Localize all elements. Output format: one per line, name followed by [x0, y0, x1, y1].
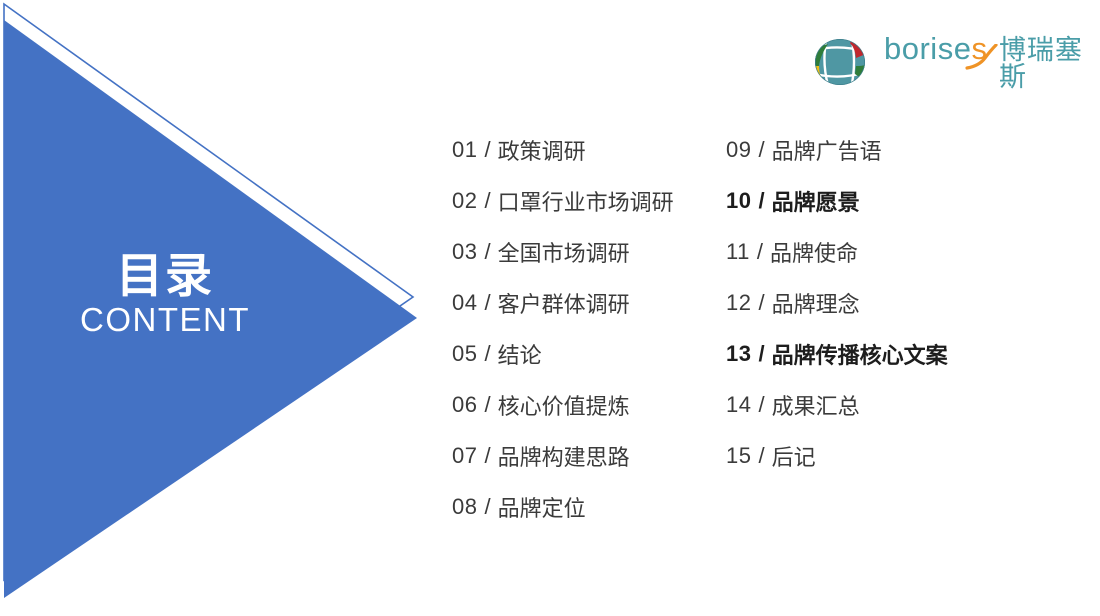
- toc-separator: /: [484, 494, 490, 520]
- toc-item-label: 口罩行业市场调研: [498, 185, 674, 217]
- list-item[interactable]: 13 / 品牌传播核心文案: [726, 328, 1026, 379]
- logo-accent-letter-glyph: s: [971, 31, 987, 66]
- toc-item-label: 结论: [498, 338, 542, 370]
- toc-item-number: 05: [452, 341, 477, 367]
- brand-logo: borise s 博瑞塞斯: [812, 34, 1100, 90]
- toc-item-label: 品牌定位: [498, 491, 586, 523]
- list-item[interactable]: 09 / 品牌广告语: [726, 124, 1026, 175]
- toc-separator: /: [758, 137, 764, 163]
- slide-canvas: 目录 CONTENT 01 / 政策调研 02 / 口罩行业市场调研 03 / …: [0, 0, 1100, 616]
- toc-separator: /: [484, 443, 490, 469]
- logo-word: borise: [884, 33, 971, 64]
- toc-separator: /: [758, 392, 764, 418]
- list-item[interactable]: 01 / 政策调研: [452, 124, 722, 175]
- toc-separator: /: [758, 188, 764, 214]
- toc-item-label: 政策调研: [498, 134, 586, 166]
- toc-separator: /: [484, 188, 490, 214]
- toc-separator: /: [484, 392, 490, 418]
- toc-item-label: 品牌愿景: [772, 185, 860, 217]
- list-item[interactable]: 04 / 客户群体调研: [452, 277, 722, 328]
- toc-item-label: 后记: [772, 440, 816, 472]
- toc-item-number: 02: [452, 188, 477, 214]
- list-item[interactable]: 07 / 品牌构建思路: [452, 430, 722, 481]
- toc-item-label: 品牌广告语: [772, 134, 882, 166]
- toc-item-number: 10: [726, 188, 751, 214]
- toc-column-left: 01 / 政策调研 02 / 口罩行业市场调研 03 / 全国市场调研 04 /…: [452, 124, 722, 532]
- toc-separator: /: [484, 290, 490, 316]
- list-item[interactable]: 12 / 品牌理念: [726, 277, 1026, 328]
- toc-item-number: 07: [452, 443, 477, 469]
- toc-item-number: 15: [726, 443, 751, 469]
- logo-accent-letter: s: [971, 33, 987, 64]
- toc-item-label: 成果汇总: [772, 389, 860, 421]
- decorative-triangle-group: [0, 0, 440, 616]
- list-item[interactable]: 05 / 结论: [452, 328, 722, 379]
- toc-separator: /: [758, 443, 764, 469]
- toc-item-label: 品牌使命: [770, 236, 858, 268]
- list-item[interactable]: 14 / 成果汇总: [726, 379, 1026, 430]
- toc-item-label: 核心价值提炼: [498, 389, 630, 421]
- toc-item-number: 01: [452, 137, 477, 163]
- toc-separator: /: [758, 341, 764, 367]
- solid-blue-triangle: [4, 20, 417, 598]
- toc-item-label: 全国市场调研: [498, 236, 630, 268]
- list-item[interactable]: 08 / 品牌定位: [452, 481, 722, 532]
- toc-item-label: 品牌构建思路: [498, 440, 630, 472]
- list-item[interactable]: 06 / 核心价值提炼: [452, 379, 722, 430]
- list-item[interactable]: 11 / 品牌使命: [726, 226, 1026, 277]
- logo-wordmark: borise s 博瑞塞斯: [884, 33, 1100, 91]
- toc-separator: /: [484, 137, 490, 163]
- toc-item-number: 08: [452, 494, 477, 520]
- list-item[interactable]: 15 / 后记: [726, 430, 1026, 481]
- toc-item-number: 06: [452, 392, 477, 418]
- toc-item-label: 品牌传播核心文案: [772, 338, 948, 370]
- toc-item-number: 04: [452, 290, 477, 316]
- toc-column-right: 09 / 品牌广告语 10 / 品牌愿景 11 / 品牌使命 12 / 品牌理念…: [726, 124, 1026, 481]
- globe-icon: [812, 36, 868, 88]
- toc-item-number: 09: [726, 137, 751, 163]
- toc-item-number: 13: [726, 341, 751, 367]
- logo-chinese-name: 博瑞塞斯: [999, 37, 1100, 91]
- toc-separator: /: [484, 341, 490, 367]
- list-item[interactable]: 03 / 全国市场调研: [452, 226, 722, 277]
- toc-separator: /: [757, 239, 763, 265]
- toc-item-label: 品牌理念: [772, 287, 860, 319]
- toc-item-number: 14: [726, 392, 751, 418]
- toc-item-label: 客户群体调研: [498, 287, 630, 319]
- toc-item-number: 03: [452, 239, 477, 265]
- toc-item-number: 11: [726, 239, 750, 265]
- toc-item-number: 12: [726, 290, 751, 316]
- toc-separator: /: [758, 290, 764, 316]
- toc-separator: /: [484, 239, 490, 265]
- list-item[interactable]: 10 / 品牌愿景: [726, 175, 1026, 226]
- list-item[interactable]: 02 / 口罩行业市场调研: [452, 175, 722, 226]
